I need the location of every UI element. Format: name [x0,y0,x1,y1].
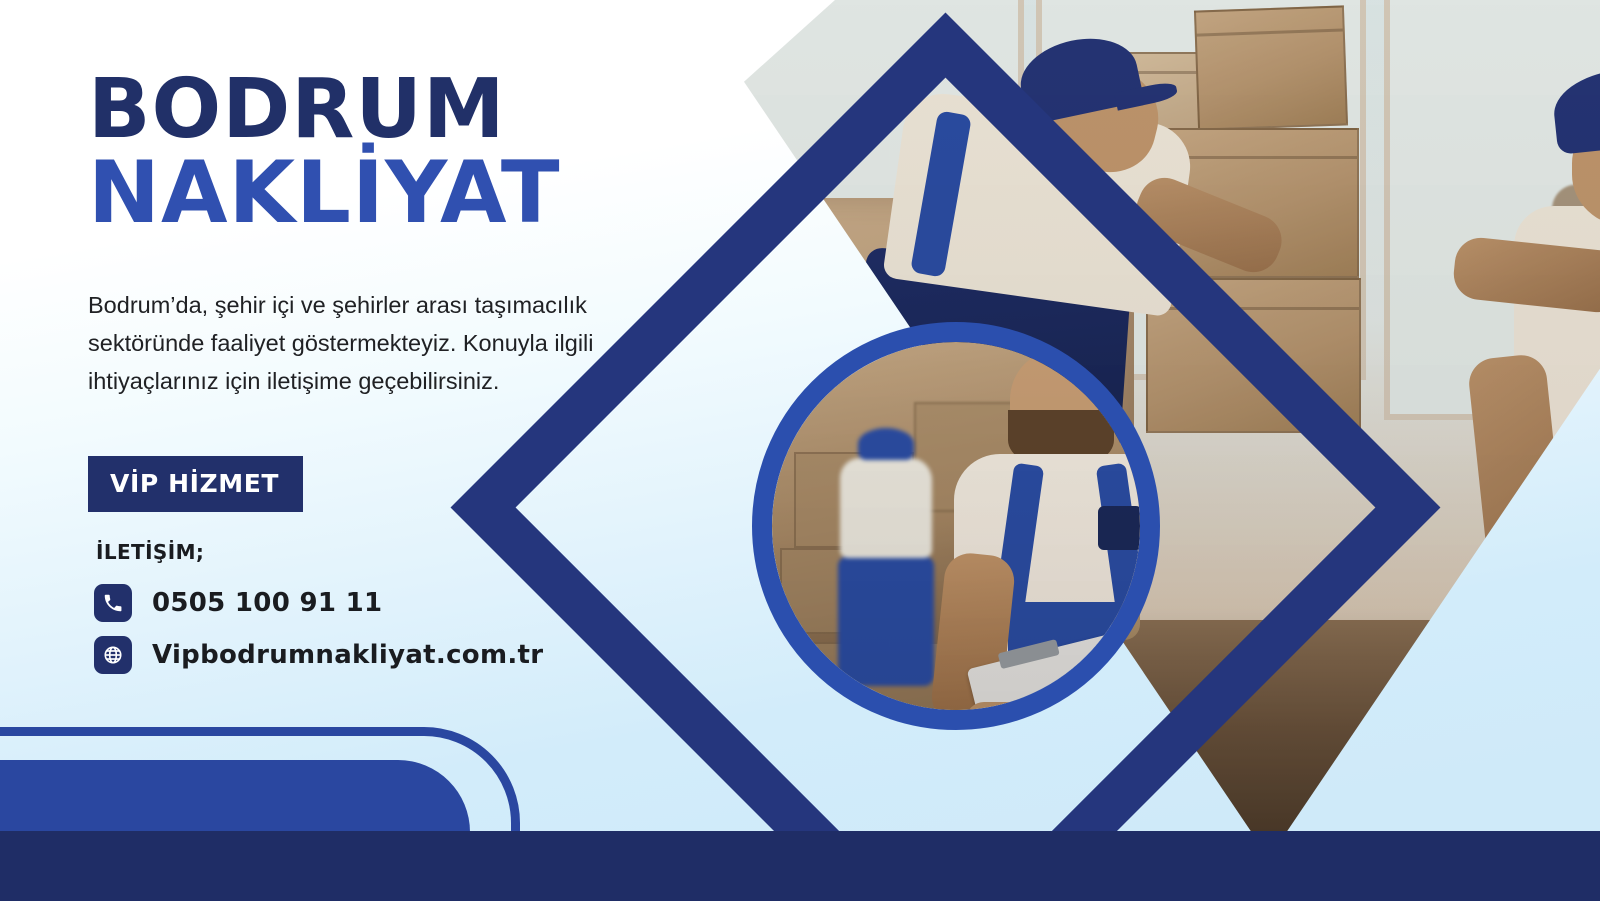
circle-photo [772,342,1140,710]
worker-trousers [838,556,934,686]
phone-number[interactable]: 0505 100 91 11 [152,588,382,618]
footer-bar [0,831,1600,901]
overall-buckle [1098,506,1140,550]
circle-photo-badge [752,322,1160,730]
worker-shirt [840,458,932,558]
contact-row-phone[interactable]: 0505 100 91 11 [94,584,708,622]
description-text: Bodrum’da, şehir içi ve şehirler arası t… [88,286,688,400]
website-url[interactable]: Vipbodrumnakliyat.com.tr [152,640,543,670]
hand [1076,680,1140,710]
globe-icon [94,636,132,674]
blue-cap [1550,63,1600,155]
mover-person-right [1444,56,1600,676]
vip-service-badge[interactable]: VİP HİZMET [88,456,303,512]
page-title-line2: NAKLİYAT [88,153,708,234]
foreground-worker [948,342,1140,710]
content-column: BODRUM NAKLİYAT Bodrum’da, şehir içi ve … [88,72,708,674]
overalls [1536,480,1600,690]
phone-icon [94,584,132,622]
blue-cap [858,428,914,460]
contact-row-website[interactable]: Vipbodrumnakliyat.com.tr [94,636,708,674]
contact-heading: İLETİŞİM; [96,540,708,564]
page-title-line1: BODRUM [88,72,708,147]
arm [1451,235,1600,314]
promo-banner: BODRUM NAKLİYAT Bodrum’da, şehir içi ve … [0,0,1600,901]
